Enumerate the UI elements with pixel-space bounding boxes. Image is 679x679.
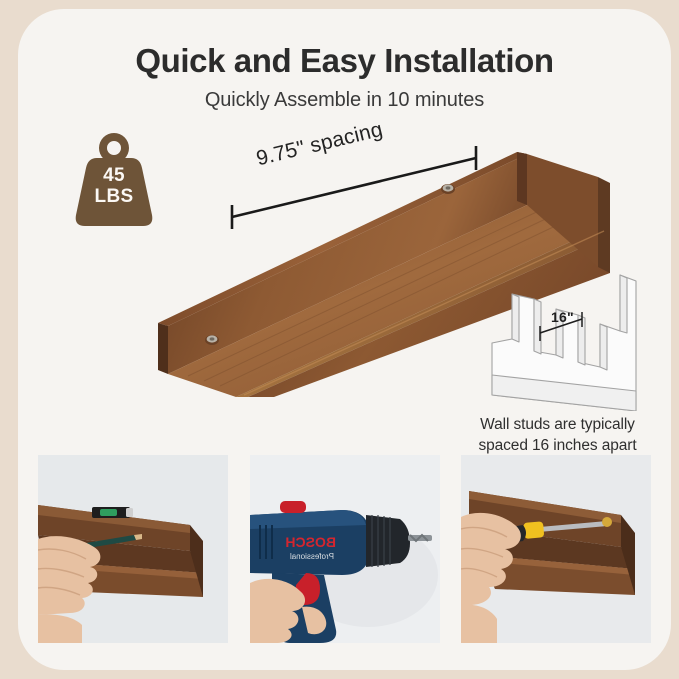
stud-diagram-caption: Wall studs are typically spaced 16 inche…: [450, 414, 665, 456]
caption-line-1: Wall studs are typically: [480, 416, 635, 433]
caption-line-2: spaced 16 inches apart: [478, 437, 636, 454]
photo-fasten-screw: [461, 455, 651, 643]
installation-steps-row: BOSCH Professional: [38, 455, 651, 643]
shelf-screw: [205, 335, 219, 345]
wall-stud-diagram: [470, 271, 660, 411]
page-subtitle: Quickly Assemble in 10 minutes: [18, 89, 671, 112]
wall-studs-icon: [470, 271, 660, 411]
photo-mark-and-level: [38, 455, 228, 643]
photo-drill-hole: BOSCH Professional: [250, 455, 440, 643]
product-info-card: Quick and Easy Installation Quickly Asse…: [18, 9, 671, 670]
page-title: Quick and Easy Installation: [18, 42, 671, 80]
page-background: Quick and Easy Installation Quickly Asse…: [0, 0, 679, 679]
stud-spacing-label: 16": [551, 309, 574, 325]
svg-text:BOSCH: BOSCH: [285, 534, 336, 550]
svg-text:Professional: Professional: [289, 552, 333, 561]
